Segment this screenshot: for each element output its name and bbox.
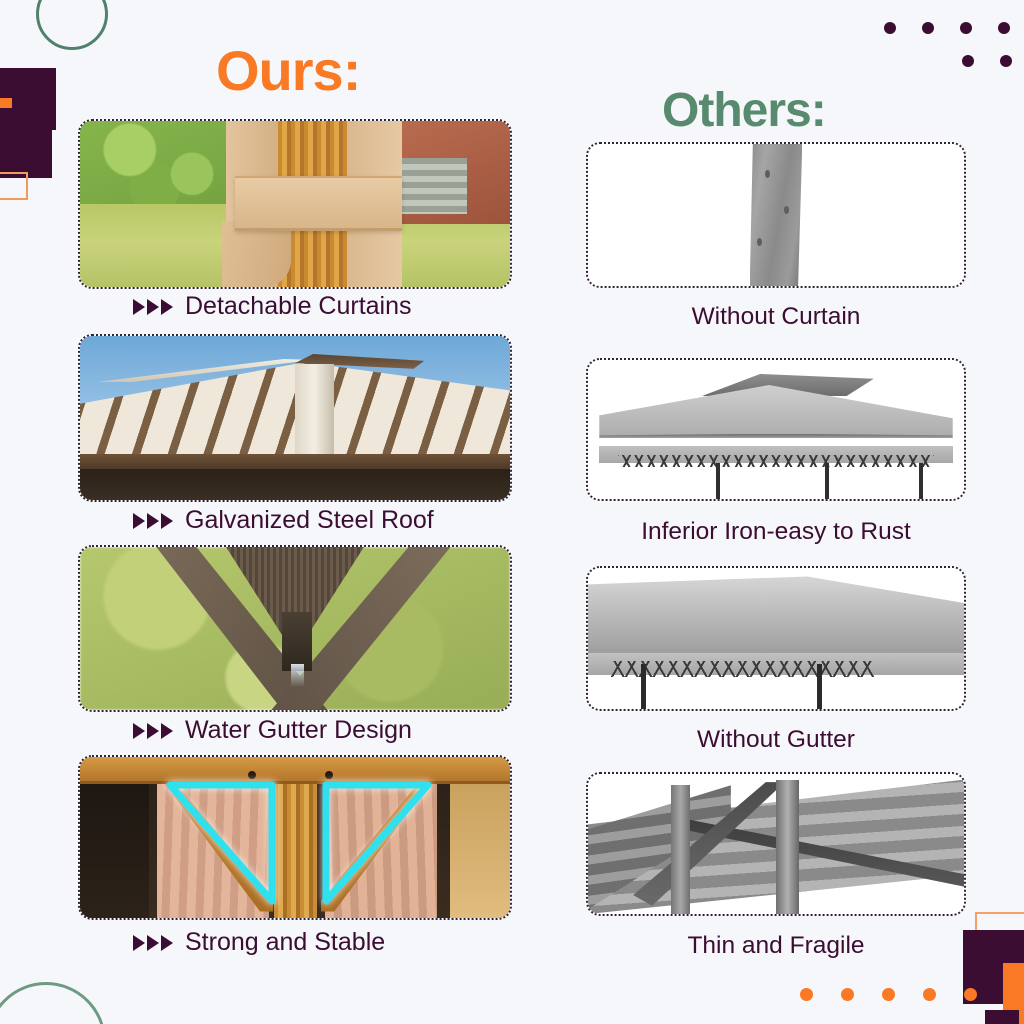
photo-detachable-curtains: [80, 121, 510, 287]
ours-image-detachable-curtains: [78, 119, 512, 289]
photo-galvanized-steel-roof: [80, 336, 510, 500]
ours-image-water-gutter-design: [78, 545, 512, 712]
decor-dot: [962, 55, 974, 67]
ours-caption-water-gutter-design: Water Gutter Design: [133, 716, 412, 745]
photo-strong-and-stable: [80, 757, 510, 918]
infographic-root: Ours: Others: Detachable Curtains: [0, 0, 1024, 1024]
ours-image-galvanized-steel-roof: [78, 334, 512, 502]
decor-dot-row-bottom-right: [800, 988, 977, 1001]
photo-inferior-iron-canopy: [588, 360, 964, 499]
decor-square-orange-outline-top-left: [0, 172, 28, 200]
triple-right-arrow-icon: [133, 513, 173, 529]
ours-caption-strong-and-stable: Strong and Stable: [133, 928, 385, 957]
others-image-without-gutter: [586, 566, 966, 711]
caption-label: Thin and Fragile: [687, 932, 864, 960]
decor-dot-row-top-right-1: [884, 22, 1024, 34]
others-caption-thin-and-fragile: Thin and Fragile: [586, 932, 966, 960]
decor-dot: [923, 988, 936, 1001]
caption-label: Detachable Curtains: [185, 292, 412, 321]
others-caption-without-gutter: Without Gutter: [586, 726, 966, 754]
others-heading: Others:: [662, 83, 826, 138]
photo-without-curtain: [588, 144, 964, 286]
others-image-thin-and-fragile: [586, 772, 966, 916]
photo-water-gutter-design: [80, 547, 510, 710]
photo-without-gutter: [588, 568, 964, 709]
caption-label: Strong and Stable: [185, 928, 385, 957]
decor-dot: [922, 22, 934, 34]
ours-image-strong-and-stable: [78, 755, 512, 920]
decor-dot: [964, 988, 977, 1001]
caption-label: Inferior Iron-easy to Rust: [641, 518, 911, 546]
caption-label: Galvanized Steel Roof: [185, 506, 434, 535]
decor-circle-teal-top-left: [36, 0, 108, 50]
decor-dot: [998, 22, 1010, 34]
decor-dot: [884, 22, 896, 34]
decor-circle-teal-bottom-left: [0, 982, 106, 1024]
others-caption-inferior-iron: Inferior Iron-easy to Rust: [586, 518, 966, 546]
ours-caption-galvanized-steel-roof: Galvanized Steel Roof: [133, 506, 434, 535]
decor-square-purple-top-left-large: [0, 108, 52, 178]
triple-right-arrow-icon: [133, 299, 173, 315]
decor-dot-row-top-right-2: [962, 55, 1024, 67]
others-image-inferior-iron: [586, 358, 966, 501]
ours-caption-detachable-curtains: Detachable Curtains: [133, 292, 412, 321]
photo-thin-and-fragile: [588, 774, 964, 914]
ours-heading: Ours:: [216, 38, 360, 103]
triple-right-arrow-icon: [133, 723, 173, 739]
caption-label: Without Curtain: [692, 303, 861, 331]
caption-label: Without Gutter: [697, 726, 855, 754]
decor-dot: [841, 988, 854, 1001]
decor-dot: [1000, 55, 1012, 67]
decor-dot: [960, 22, 972, 34]
caption-label: Water Gutter Design: [185, 716, 412, 745]
others-caption-without-curtain: Without Curtain: [586, 303, 966, 331]
decor-dot: [800, 988, 813, 1001]
triple-right-arrow-icon: [133, 935, 173, 951]
decor-square-purple-bottom-right-small: [985, 1010, 1019, 1024]
others-image-without-curtain: [586, 142, 966, 288]
decor-dot: [882, 988, 895, 1001]
